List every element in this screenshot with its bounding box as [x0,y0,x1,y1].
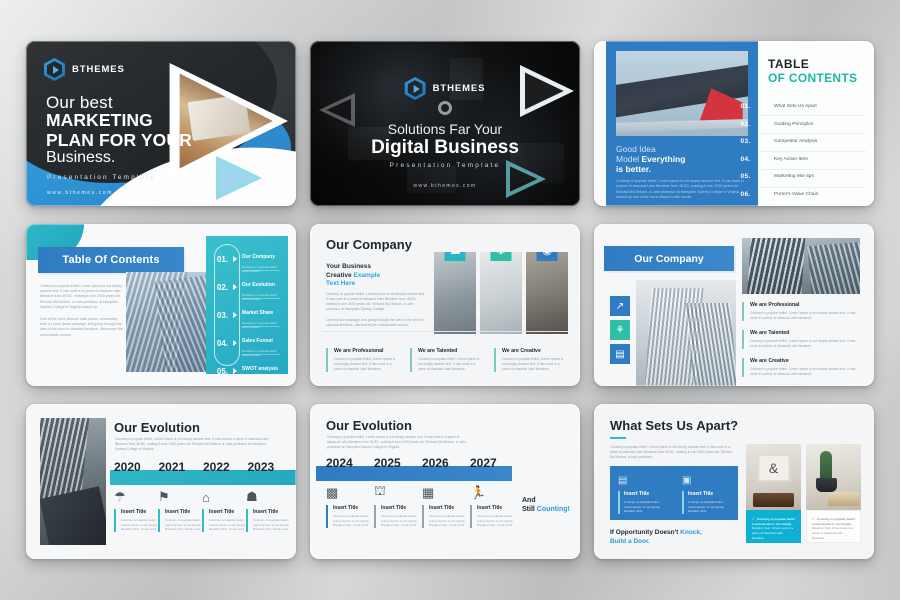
toc-item[interactable]: 03. Market ShareContrary to popular beli… [212,301,282,329]
blue-card: ▣ Insert TitleContrary to popular belief… [674,466,738,520]
card-title: Insert Title [477,505,518,511]
card-title: Insert Title [429,505,470,511]
card-desc: Contrary to popular belief, Lorem Ipsum … [165,518,202,532]
timeline-card: 🏃Insert TitleContrary to popular belief,… [470,484,518,528]
blue-card: ▤ Insert TitleContrary to popular belief… [610,466,674,520]
toc-title-line-1: TABLE [768,57,857,71]
slide-cover-digital-business[interactable]: BTHEMES Solutions Far Your Digital Busin… [310,41,580,206]
blue-feature-box: ▤ Insert TitleContrary to popular belief… [610,466,738,520]
toc-item-label: Competitor Analysis [759,139,868,144]
feature-desc: Contrary to popular belief, Lorem Ipsum … [334,357,400,372]
toc-item-title: Our Evolution [242,282,275,288]
card-desc: Contrary to popular belief, Lorem Ipsum … [333,514,374,528]
caption-bold: Contrary to popular belief Lorem Ipsum i… [752,517,795,526]
timeline-card: ▦Insert TitleContrary to popular belief,… [422,484,470,528]
caption-line-2: Model Everything [616,154,746,164]
parachute-icon: ☂ [114,488,158,505]
interior-photo-2 [806,444,861,510]
cover-line-2: MARKETING [46,112,153,129]
dark-cover-subtitle: Presentation Template [310,162,580,169]
toc-item-number: 02. [212,283,233,292]
toc-teal-panel: 01. Our CompanyContrary to popular belie… [206,236,288,374]
team-photo-1: ☁ [434,252,476,334]
toc-item-number: 02. [732,121,759,128]
feature-desc: Contrary to popular belief, Lorem Ipsum … [750,311,860,321]
feature-title: We are Creative [502,348,568,354]
toc-item-number: 05. [212,367,233,376]
toc-item-number: 04. [212,339,233,348]
timeline-years: 2024 2025 2026 2027 [326,456,518,470]
feature-column: We are TalentedContrary to popular belie… [410,348,484,372]
play-logo-icon [44,58,65,81]
building-photo [126,272,206,372]
timeline-card: ⚑Insert TitleContrary to popular belief,… [158,488,202,532]
arrow-icon [233,284,237,290]
slide-table-of-contents-teal[interactable]: Table Of Contents Contrary to popular be… [26,224,296,386]
brand-name: BTHEMES [72,64,125,75]
feature-title: We are Creative [750,358,860,364]
card-desc: Contrary to popular belief, Lorem Ipsum … [688,500,731,514]
toc-title-badge: Table Of Contents [38,247,184,273]
card-desc: Contrary to popular belief, Lorem Ipsum … [624,500,667,514]
card-title: Insert Title [253,509,290,515]
slide-intro: Contrary to popular belief, Lorem Ipsum … [327,435,472,450]
climber-photo [40,418,106,545]
dark-cover-url: www.bthemes.com [414,183,477,189]
growth-icon: ↗ [610,296,630,316]
toc-item[interactable]: 02. Our EvolutionContrary to popular bel… [212,273,282,301]
team-photo-2: ✾ [480,252,522,334]
caption-line-1: Good Idea [616,144,746,154]
toc-item[interactable]: 01.What Sets Us Apart [732,98,868,116]
toc-title: Table Of Contents [62,254,159,266]
year-label: 2020 [114,460,159,474]
chart-icon: ▤ [610,344,630,364]
architecture-photo [616,51,748,136]
arrow-icon [233,256,237,262]
card-desc: Contrary to popular belief, Lorem Ipsum … [253,518,290,532]
year-label: 2026 [422,456,470,470]
card-desc: Contrary to popular belief, Lorem Ipsum … [477,514,518,528]
quote-text: If Opportunity Doesn't Knock,Build a Doo… [610,528,702,546]
card-desc: Contrary to popular belief, Lorem Ipsum … [429,514,470,528]
year-label: 2027 [470,456,518,470]
card-title: Insert Title [333,505,374,511]
factory-icon: ⌂ [202,488,246,505]
toc-item[interactable]: 06.Porter's Value Chain [732,186,868,204]
toc-item[interactable]: 04.Key Action Item [732,151,868,169]
toc-item-number: 04. [732,156,759,163]
office-building-photo [742,238,860,294]
feature-desc: Contrary to popular belief, Lorem Ipsum … [750,339,860,349]
timeline-years: 2020 2021 2022 2023 [114,460,292,474]
runner-icon: 🏃 [470,484,518,501]
check-icon: ✓ [752,517,755,521]
feature-column: We are CreativeContrary to popular belie… [494,348,568,372]
toc-item-title: Market Share [242,310,273,316]
toc-item-label: What Sets Us Apart [759,104,868,109]
toc-item-number: 03. [212,311,233,320]
card-title: Insert Title [688,491,731,497]
cover-url: www.bthemes.com [47,190,113,196]
slide-title: What Sets Us Apart? [610,418,738,433]
feature-desc: Contrary to popular belief, Lorem Ipsum … [502,357,568,372]
slide-title: Our Company [326,237,412,252]
feature-desc: Contrary to popular belief, Lorem Ipsum … [418,357,484,372]
toc-paragraph-2: One of the more obscure Latin words, con… [40,317,124,338]
paragraph-2: Lorem Ipsum passage, and going through t… [326,318,426,328]
card-title: Insert Title [121,509,158,515]
caption-line-3: is better. [616,164,746,174]
feature-title: We are Talented [418,348,484,354]
cover-line-4: Business. [46,149,115,167]
feature-title: We are Professional [750,302,860,308]
slide-title-badge: Our Company [604,246,734,271]
slide-cover-marketing-plan[interactable]: BTHEMES Our best MARKETING PLAN FOR YOUR… [26,41,296,206]
cover-subtitle: Presentation Template [47,174,156,181]
cloud-icon: ☁ [445,252,466,261]
toc-item-title: Our Company [242,254,275,260]
toc-item-number: 03. [732,138,759,145]
check-icon: ✓ [812,517,815,521]
arrow-icon [233,312,237,318]
feature-title: We are Professional [334,348,400,354]
toc-item-desc: Contrary to popular belief Lorem Ipsum [242,265,282,273]
timeline-cards: ▩Insert TitleContrary to popular belief,… [326,484,518,528]
toc-item-number: 06. [732,191,759,198]
year-label: 2024 [326,456,374,470]
slide-what-sets-us-apart[interactable]: What Sets Us Apart? Contrary to popular … [594,404,874,559]
feature-columns: We are ProfessionalContrary to popular b… [326,348,568,372]
year-label: 2023 [248,460,293,474]
caption-rest: Random Text. It has roots in a piece of … [812,526,853,539]
slide-our-company-light[interactable]: Our Company Your Business Creative Examp… [310,224,580,386]
timeline-card: ⌂Insert TitleContrary to popular belief,… [202,488,246,532]
title-underline [610,437,626,439]
feature-list: We are ProfessionalContrary to popular b… [742,302,860,386]
caption-bold: Contrary to popular belief Lorem Ipsum i… [812,517,855,526]
toc-item-desc: Contrary to popular belief Lorem Ipsum [242,321,282,329]
slide-grid: BTHEMES Our best MARKETING PLAN FOR YOUR… [0,0,900,600]
slide-our-company-badge[interactable]: Our Company ↗ ⚘ ▤ We are ProfessionalCon… [594,224,874,386]
feature-card-02: 02 ✓Contrary to popular belief Lorem Ips… [806,444,861,543]
feature-desc: Contrary to popular belief, Lorem Ipsum … [750,367,860,377]
card-caption: ✓Contrary to popular belief Lorem Ipsum … [806,510,861,543]
card-desc: Contrary to popular belief, Lorem Ipsum … [121,518,158,532]
card-desc: Contrary to popular belief, Lorem Ipsum … [209,518,246,532]
caption-body: Contrary to popular belief, Lorem Ipsum … [616,179,746,201]
toc-item-number: 01. [732,103,759,110]
slide-our-evolution-2024[interactable]: Our Evolution Contrary to popular belief… [310,404,580,559]
dark-cover-line-1: Solutions Far Your [310,121,580,137]
timeline-card: ▩Insert TitleContrary to popular belief,… [326,484,374,528]
document-icon: ▤ [618,475,667,486]
calendar-icon: ▦ [422,484,470,501]
feature-item: We are CreativeContrary to popular belie… [742,358,860,377]
card-caption: ✓Contrary to popular belief Lorem Ipsum … [746,510,801,543]
signpost-icon: ⚑ [158,488,202,505]
toc-item-number: 05. [732,173,759,180]
timeline-card: ☗Insert TitleContrary to popular belief,… [246,488,290,532]
toc-title: TABLE OF CONTENTS [768,57,857,85]
card-title: Insert Title [209,509,246,515]
timeline-card: ⛫Insert TitleContrary to popular belief,… [374,484,422,528]
building-icon: ⛫ [374,484,422,501]
card-title: Insert Title [165,509,202,515]
bulb-icon: ✾ [491,252,512,261]
arrow-icon [233,340,237,346]
toc-item[interactable]: 04. Sales FunnelContrary to popular beli… [212,329,282,357]
caption-rest: Random Text. It has roots in a piece of … [752,526,793,539]
toc-item-desc: Contrary to popular belief Lorem Ipsum [242,349,282,357]
card-title: Insert Title [624,491,667,497]
qr-icon: ▩ [326,484,374,501]
photo-row: ☁ ✾ ◉ [434,252,568,334]
person-icon: ☗ [246,488,290,505]
slide-title: Our Evolution [114,420,200,435]
slide-table-of-contents-blue[interactable]: Good Idea Model Everything is better. Co… [594,41,874,206]
brand-logo: BTHEMES [44,58,125,81]
toc-paragraph-1: Contrary to popular belief, Lorem Ipsum … [40,284,124,310]
network-icon: ⚘ [610,320,630,340]
card-title: Insert Title [381,505,422,511]
toc-item-title: SWOT analysis [242,366,278,372]
arrow-icon [233,368,237,374]
brand-name: BTHEMES [433,83,486,94]
toc-title-line-2: OF CONTENTS [768,71,857,85]
year-label: 2025 [374,456,422,470]
still-counting-text: AndStill Counting! [522,496,570,514]
toc-item[interactable]: 05.Marketing Mix-4ps [732,168,868,186]
dark-cover-line-2: Digital Business [310,137,580,159]
team-photo-3: ◉ [526,252,568,334]
skyscraper-photo [636,280,736,386]
year-label: 2022 [203,460,248,474]
toc-item-desc: Contrary to popular belief Lorem Ipsum [242,377,282,385]
toc-body-text: Contrary to popular belief, Lorem Ipsum … [40,284,124,345]
toc-item[interactable]: 05. SWOT analysisContrary to popular bel… [212,357,282,385]
slide-body: Contrary to popular belief, Lorem Ipsum … [326,292,426,334]
toc-item[interactable]: 03.Competitor Analysis [732,133,868,151]
toc-item-desc: Contrary to popular belief Lorem Ipsum [242,293,282,301]
slide-our-evolution-2020[interactable]: Our Evolution Contrary to popular belief… [26,404,296,559]
book-icon: ▣ [682,475,731,486]
slide-intro: Contrary to popular belief, Lorem Ipsum … [115,437,270,452]
feature-item: We are ProfessionalContrary to popular b… [742,302,860,321]
paragraph-1: Contrary to popular belief, Lorem Ipsum … [326,292,426,312]
toc-caption-block: Good Idea Model Everything is better. Co… [616,144,746,201]
year-label: 2021 [159,460,204,474]
toc-item-label: Marketing Mix-4ps [759,174,868,179]
card-desc: Contrary to popular belief, Lorem Ipsum … [381,514,422,528]
toc-item-number: 01. [212,255,233,264]
cover-line-3: PLAN FOR YOUR [46,130,192,151]
feature-column: We are ProfessionalContrary to popular b… [326,348,400,372]
toc-item-label: Key Action Item [759,157,868,162]
slide-title: Our Company [634,253,703,265]
globe-icon: ◉ [537,252,558,261]
slide-title: Our Evolution [326,418,412,433]
interior-photo-1 [746,444,801,510]
feature-card-01: 01 ✓Contrary to popular belief Lorem Ips… [746,444,801,543]
slide-subtitle: Your Business Creative Example Text Here [326,263,426,289]
toc-item-label: Guiding Principles [759,122,868,127]
timeline-cards: ☂Insert TitleContrary to popular belief,… [114,488,290,532]
toc-item[interactable]: 02.Guiding Principles [732,116,868,134]
slide-intro: Contrary to popular belief, Lorem Ipsum … [610,445,738,460]
timeline-card: ☂Insert TitleContrary to popular belief,… [114,488,158,532]
toc-item-label: Porter's Value Chain [759,192,868,197]
brand-logo: BTHEMES [405,77,486,100]
ring-decoration-icon [438,101,452,115]
feature-title: We are Talented [750,330,860,336]
toc-item-title: Sales Funnel [242,338,273,344]
toc-item[interactable]: 01. Our CompanyContrary to popular belie… [212,245,282,273]
play-logo-icon [405,77,426,100]
feature-item: We are TalentedContrary to popular belie… [742,330,860,349]
